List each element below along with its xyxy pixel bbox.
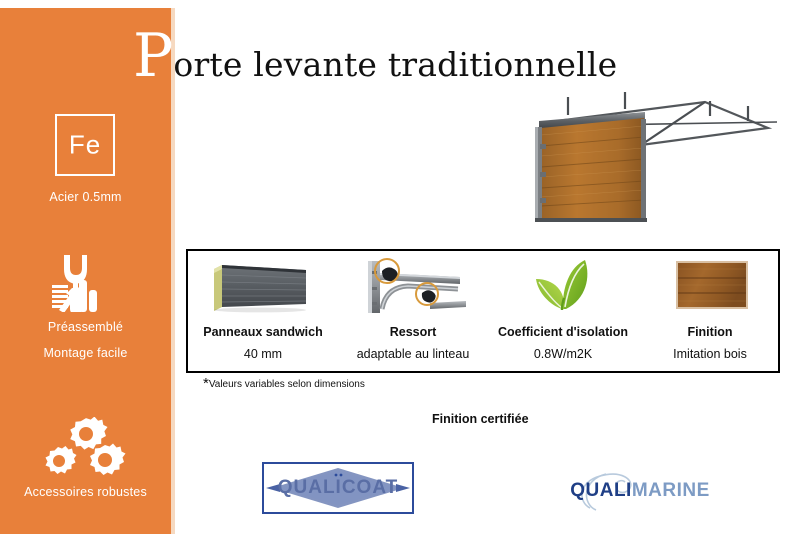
feature-item-finition: Finition Imitation bois [638,251,782,371]
qualicoat-logo: QUALICOAT [262,462,414,514]
footnote: *Valeurs variables selon dimensions [203,379,365,390]
features-panel: Panneaux sandwich 40 mm [186,249,780,373]
footnote-text: Valeurs variables selon dimensions [209,379,365,390]
feature-item-finition-value: Imitation bois [638,347,782,361]
feature-item-panneaux: Panneaux sandwich 40 mm [188,251,338,371]
feature-item-isolation: Coefficient d'isolation 0.8W/m2K [488,251,638,371]
qualicoat-wordmark: QUALICOAT [264,477,412,499]
wrench-tools-icon [0,250,171,312]
qualimarine-logo: QUALIMARINE [560,468,720,512]
feature-item-ressort-title: Ressort [338,325,488,339]
gears-icon [0,417,171,487]
sidebar-item-acier-label: Acier 0.5mm [0,189,171,206]
certification-heading: Finition certifiée [432,412,529,426]
feature-item-finition-title: Finition [638,325,782,339]
sidebar-item-preassemble-label-1: Préassemblé [0,319,171,336]
spring-rail-art [338,257,488,315]
feature-item-panneaux-value: 40 mm [188,347,338,361]
poster-root: Fe Acier 0.5mm [0,0,800,534]
wood-finish-swatch-art [638,257,782,315]
feature-item-ressort-value: adaptable au linteau [338,347,488,361]
page-title-text: orte levante traditionnelle [173,45,617,84]
sidebar-item-accessoires-label: Accessoires robustes [0,484,171,501]
qualimarine-wordmark: QUALIMARINE [560,480,720,502]
fe-element-box-icon: Fe [55,114,115,176]
garage-door-photo [505,88,790,228]
sidebar-item-preassemble-label-2: Montage facile [0,345,171,362]
page-title-dropcap: P [133,21,173,91]
feature-item-isolation-value: 0.8W/m2K [488,347,638,361]
green-leaves-art [488,257,638,315]
feature-item-isolation-title: Coefficient d'isolation [488,325,638,339]
feature-item-panneaux-title: Panneaux sandwich [188,325,338,339]
feature-item-ressort: Ressort adaptable au linteau [338,251,488,371]
fe-symbol-label: Fe [57,130,113,161]
sandwich-panel-art [188,257,338,315]
qualimarine-wordmark-part1: QUALI [570,480,632,501]
qualimarine-wordmark-part2: MARINE [632,480,710,501]
page-title: Porte levante traditionnelle [133,25,617,87]
